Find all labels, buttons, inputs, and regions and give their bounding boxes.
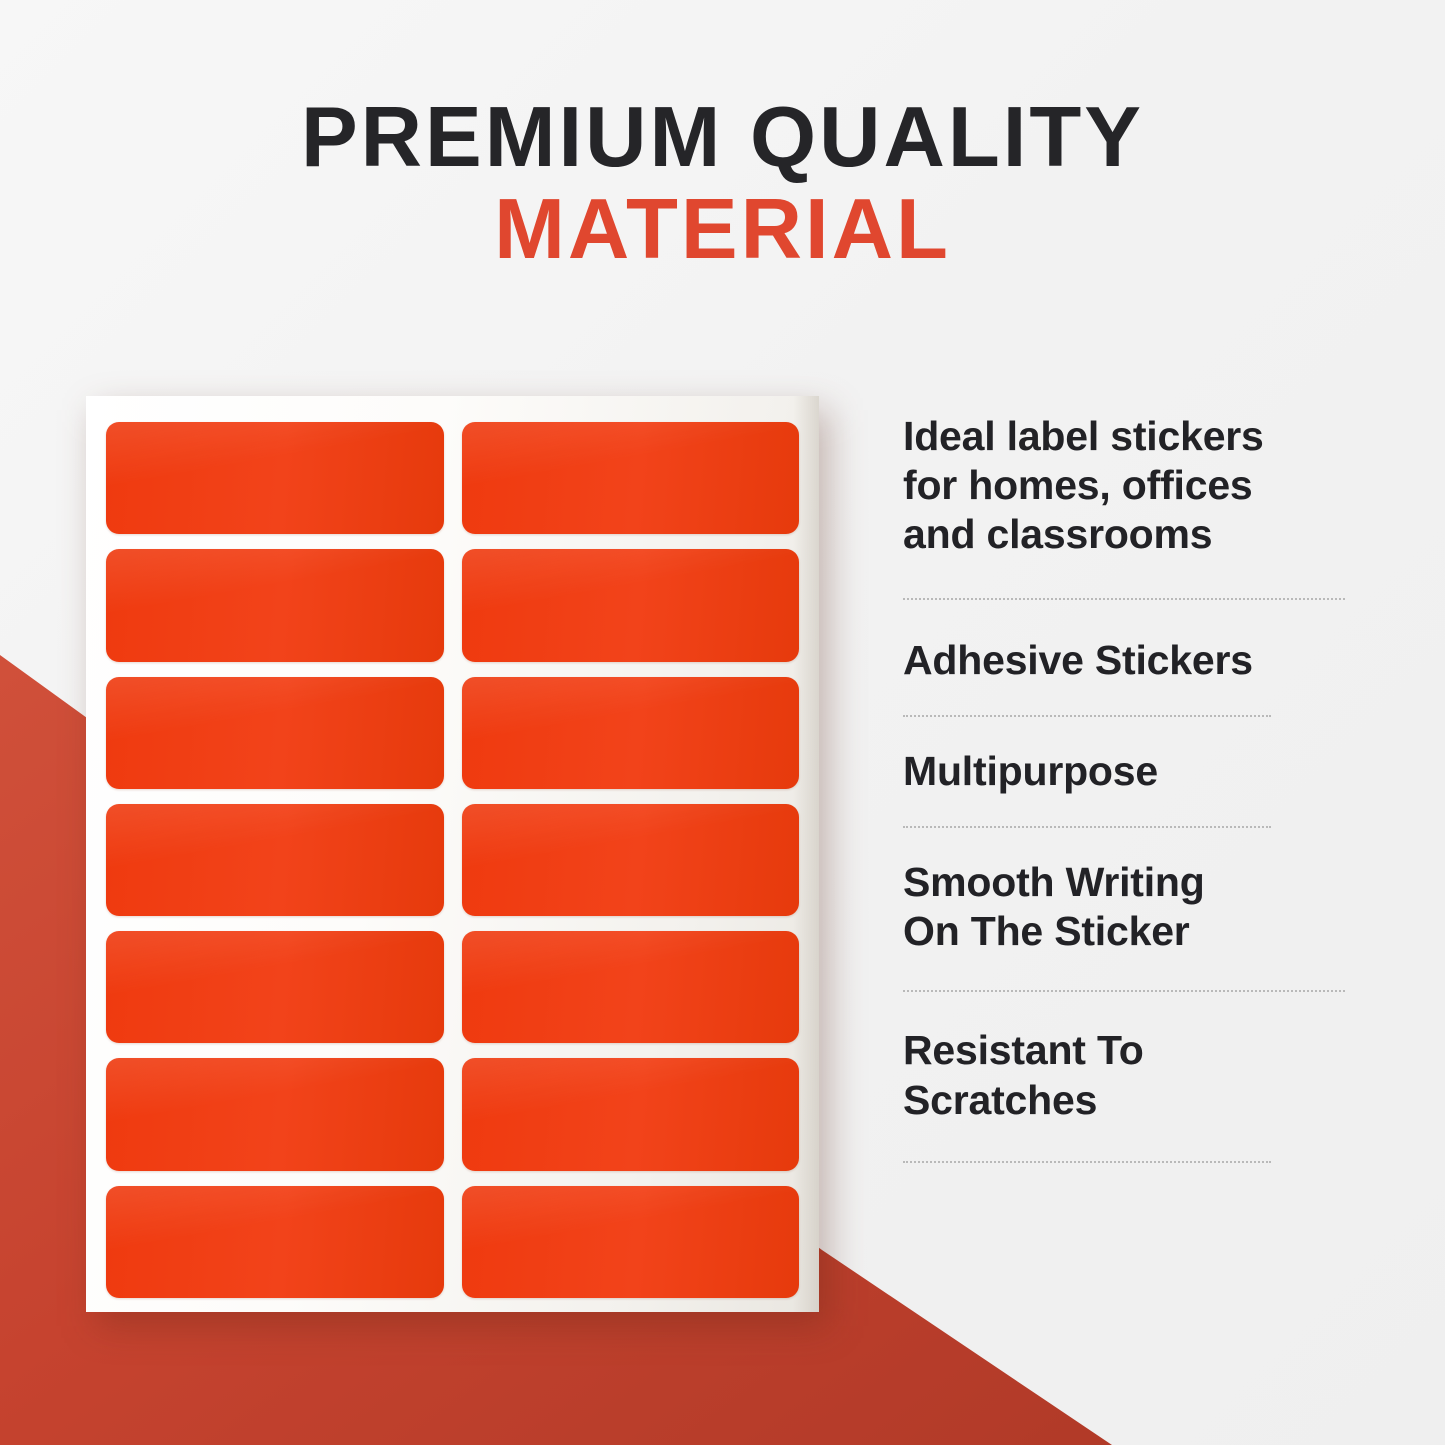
feature-divider-3 (903, 990, 1345, 992)
sticker-label (462, 677, 800, 789)
label-backing-sheet (86, 396, 819, 1312)
sticker-label (106, 1186, 444, 1298)
sticker-label (462, 1058, 800, 1170)
title-line-primary: PREMIUM QUALITY (0, 96, 1445, 179)
feature-item-3: Smooth Writing On The Sticker (903, 858, 1351, 956)
sticker-label (462, 1186, 800, 1298)
feature-divider-2 (903, 826, 1271, 828)
feature-item-2: Multipurpose (903, 747, 1351, 796)
sticker-label (106, 804, 444, 916)
product-infographic: PREMIUM QUALITY MATERIAL (0, 0, 1445, 1445)
sticker-label (106, 549, 444, 661)
sticker-label (462, 931, 800, 1043)
sticker-label (462, 422, 800, 534)
sticker-label (106, 422, 444, 534)
feature-divider-0 (903, 598, 1345, 600)
sticker-label (106, 931, 444, 1043)
feature-item-0: Ideal label stickers for homes, offices … (903, 412, 1351, 560)
page-title: PREMIUM QUALITY MATERIAL (0, 96, 1445, 272)
feature-item-4: Resistant To Scratches (903, 1026, 1351, 1124)
sticker-label (106, 677, 444, 789)
sticker-label (462, 804, 800, 916)
feature-item-1: Adhesive Stickers (903, 636, 1351, 685)
product-photo (86, 396, 819, 1312)
title-line-accent: MATERIAL (0, 187, 1445, 272)
feature-divider-4 (903, 1161, 1271, 1163)
sticker-label (462, 549, 800, 661)
feature-list: Ideal label stickers for homes, offices … (903, 412, 1351, 1163)
sticker-label (106, 1058, 444, 1170)
feature-divider-1 (903, 715, 1271, 717)
label-grid (106, 422, 799, 1298)
